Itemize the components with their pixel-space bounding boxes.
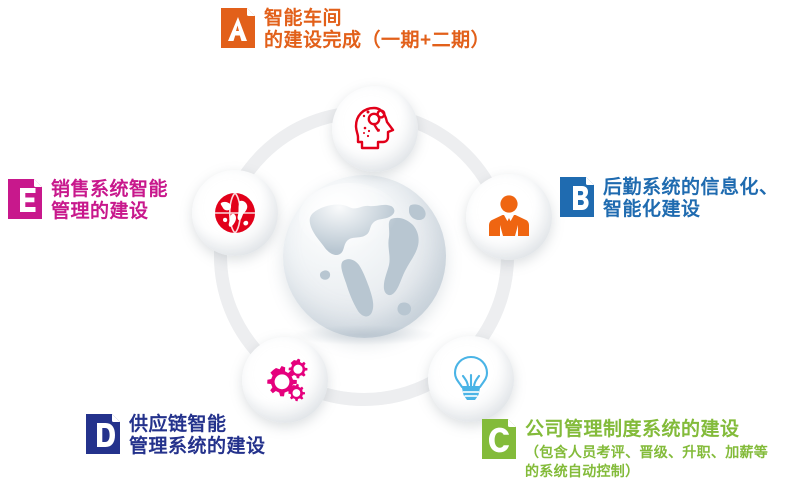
globe-sphere-icon bbox=[283, 175, 446, 338]
globe-earth-icon bbox=[212, 190, 258, 236]
label-c-subtitle: （包含人员考评、晋级、升职、加薪等 的系统自动控制） bbox=[525, 443, 768, 479]
globe-shadow bbox=[293, 325, 435, 345]
label-b-title: 后勤系统的信息化、 智能化建设 bbox=[603, 177, 779, 222]
node-circle-b[interactable] bbox=[466, 174, 552, 260]
label-d[interactable]: 供应链智能 管理系统的建设 bbox=[86, 414, 266, 459]
central-globe bbox=[283, 175, 446, 338]
lightbulb-icon bbox=[449, 354, 493, 404]
label-c[interactable]: 公司管理制度系统的建设 （包含人员考评、晋级、升职、加薪等 的系统自动控制） bbox=[482, 419, 768, 480]
node-circle-e[interactable] bbox=[192, 170, 278, 256]
label-e[interactable]: 销售系统智能 管理的建设 bbox=[8, 179, 168, 224]
badge-letter-b-icon bbox=[560, 177, 594, 217]
badge-letter-c-icon bbox=[482, 419, 516, 459]
diagram-canvas: 智能车间 的建设完成（一期+二期） 后勤系统的信息化、 智能化建设 公司管理制度… bbox=[0, 0, 800, 493]
businessman-icon bbox=[487, 194, 531, 240]
label-e-title: 销售系统智能 管理的建设 bbox=[51, 179, 168, 224]
label-a-title: 智能车间 的建设完成（一期+二期） bbox=[264, 8, 490, 53]
node-circle-a[interactable] bbox=[332, 86, 418, 172]
node-circle-d[interactable] bbox=[242, 337, 328, 423]
badge-letter-a-icon bbox=[221, 8, 255, 48]
gears-icon bbox=[260, 357, 310, 403]
label-c-title: 公司管理制度系统的建设 bbox=[525, 419, 768, 441]
node-circle-c[interactable] bbox=[428, 336, 514, 422]
label-a[interactable]: 智能车间 的建设完成（一期+二期） bbox=[221, 8, 490, 53]
label-b[interactable]: 后勤系统的信息化、 智能化建设 bbox=[560, 177, 779, 222]
badge-letter-e-icon bbox=[8, 179, 42, 219]
label-d-title: 供应链智能 管理系统的建设 bbox=[129, 414, 266, 459]
badge-letter-d-icon bbox=[86, 414, 120, 454]
head-with-gears-icon bbox=[350, 104, 400, 154]
